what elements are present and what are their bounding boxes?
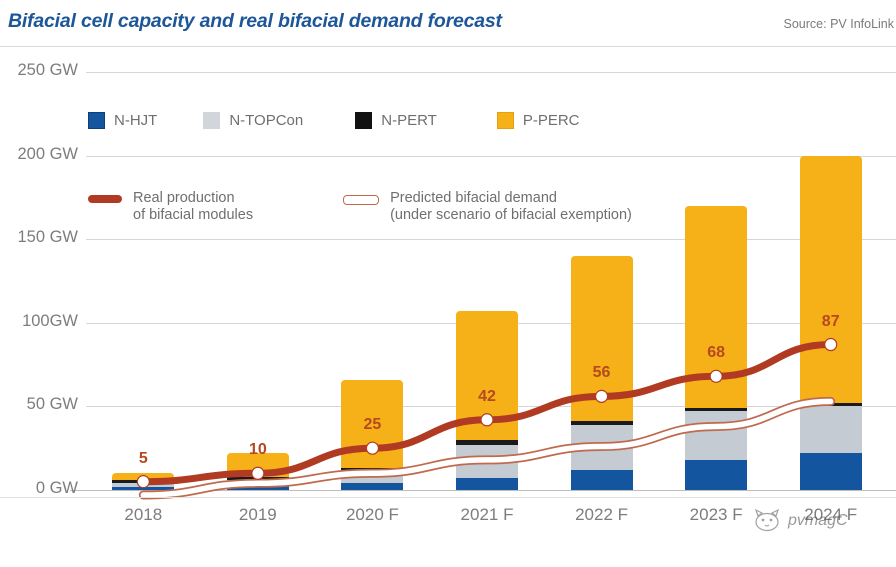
square-swatch-icon: [88, 112, 105, 129]
y-axis-tick: 50 GW: [0, 395, 78, 414]
square-swatch-icon: [203, 112, 220, 129]
solid-line-icon: [88, 195, 122, 203]
chart-container: Bifacial cell capacity and real bifacial…: [0, 0, 896, 567]
bar-segment-n-topcon[interactable]: [341, 473, 403, 483]
watermark: pvmagC: [752, 508, 848, 534]
bar-segment-p-perc[interactable]: [571, 256, 633, 422]
bar-segment-n-pert[interactable]: [571, 421, 633, 424]
bar-segment-n-hjt[interactable]: [800, 453, 862, 490]
y-axis-tick: 100GW: [0, 312, 78, 331]
x-axis-tick: 2019: [203, 505, 313, 525]
legend-label: N-PERT: [381, 112, 437, 129]
gridline: [70, 490, 896, 491]
bar-segment-n-hjt[interactable]: [456, 478, 518, 490]
bar-segment-n-topcon[interactable]: [227, 480, 289, 485]
data-label: 5: [113, 450, 173, 468]
bar-segment-n-topcon[interactable]: [456, 445, 518, 478]
plot-area: 0 GW50 GW100GW150 GW200 GW250 GW 5102542…: [0, 0, 896, 567]
legend-line-label-row2: (under scenario of bifacial exemption): [390, 207, 632, 224]
legend-item-n-topcon[interactable]: N-TOPCon: [203, 112, 303, 129]
legend-line-series: Real productionof bifacial modulesPredic…: [88, 190, 632, 224]
data-label: 25: [342, 416, 402, 434]
legend-item-p-perc[interactable]: P-PERC: [497, 112, 580, 129]
legend-line-label: Predicted bifacial demand(under scenario…: [390, 190, 632, 224]
legend-series-swatches: N-HJTN-TOPConN-PERTP-PERC: [88, 112, 626, 129]
cat-mascot-icon: [752, 508, 782, 534]
legend-line-label: Real productionof bifacial modules: [133, 190, 253, 224]
legend-line-item-real-production[interactable]: Real productionof bifacial modules: [88, 190, 253, 224]
data-label: 10: [228, 441, 288, 459]
x-axis-tick: 2022 F: [547, 505, 657, 525]
bar-segment-p-perc[interactable]: [800, 156, 862, 403]
y-axis-tick: 250 GW: [0, 61, 78, 80]
legend-label: N-TOPCon: [229, 112, 303, 129]
bar-segment-n-hjt[interactable]: [571, 470, 633, 490]
legend-line-item-predicted-demand[interactable]: Predicted bifacial demand(under scenario…: [343, 190, 632, 224]
bar-segment-p-perc[interactable]: [456, 311, 518, 440]
bar-segment-n-pert[interactable]: [112, 480, 174, 483]
x-axis-tick: 2020 F: [317, 505, 427, 525]
data-label: 56: [572, 364, 632, 382]
bar-segment-n-topcon[interactable]: [112, 483, 174, 486]
bar-segment-n-pert[interactable]: [341, 468, 403, 473]
bar-segment-n-hjt[interactable]: [227, 485, 289, 490]
legend-line-label-row1: Real production: [133, 190, 253, 207]
legend-label: N-HJT: [114, 112, 157, 129]
bar-segment-n-hjt[interactable]: [685, 460, 747, 490]
bar-segment-p-perc[interactable]: [112, 473, 174, 480]
bar-segment-n-topcon[interactable]: [800, 406, 862, 453]
bar-segment-n-pert[interactable]: [800, 403, 862, 406]
bar-segment-n-topcon[interactable]: [685, 411, 747, 459]
bar-segment-n-pert[interactable]: [227, 477, 289, 480]
data-label: 68: [686, 344, 746, 362]
hollow-line-icon: [343, 195, 379, 205]
bar-segment-n-hjt[interactable]: [341, 483, 403, 490]
bar-segment-n-topcon[interactable]: [571, 425, 633, 470]
gridline: [86, 239, 896, 240]
bar-stack[interactable]: [112, 473, 174, 490]
bar-segment-n-pert[interactable]: [456, 440, 518, 445]
legend-line-label-row1: Predicted bifacial demand: [390, 190, 632, 207]
square-swatch-icon: [497, 112, 514, 129]
bar-segment-n-pert[interactable]: [685, 408, 747, 411]
legend-line-label-row2: of bifacial modules: [133, 207, 253, 224]
bar-stack[interactable]: [341, 380, 403, 490]
data-label: 87: [801, 313, 861, 331]
legend-item-n-pert[interactable]: N-PERT: [355, 112, 437, 129]
square-swatch-icon: [355, 112, 372, 129]
x-axis-tick: 2021 F: [432, 505, 542, 525]
watermark-text: pvmagC: [788, 512, 848, 530]
y-axis-tick: 200 GW: [0, 145, 78, 164]
legend-label: P-PERC: [523, 112, 580, 129]
gridline: [86, 156, 896, 157]
x-axis-tick: 2018: [88, 505, 198, 525]
y-axis-tick: 0 GW: [0, 479, 78, 498]
axis-bottom-rule: [0, 497, 896, 498]
data-label: 42: [457, 388, 517, 406]
legend-item-n-hjt[interactable]: N-HJT: [88, 112, 157, 129]
gridline: [86, 72, 896, 73]
bar-segment-p-perc[interactable]: [685, 206, 747, 408]
bar-segment-n-hjt[interactable]: [112, 487, 174, 490]
y-axis-tick: 150 GW: [0, 228, 78, 247]
